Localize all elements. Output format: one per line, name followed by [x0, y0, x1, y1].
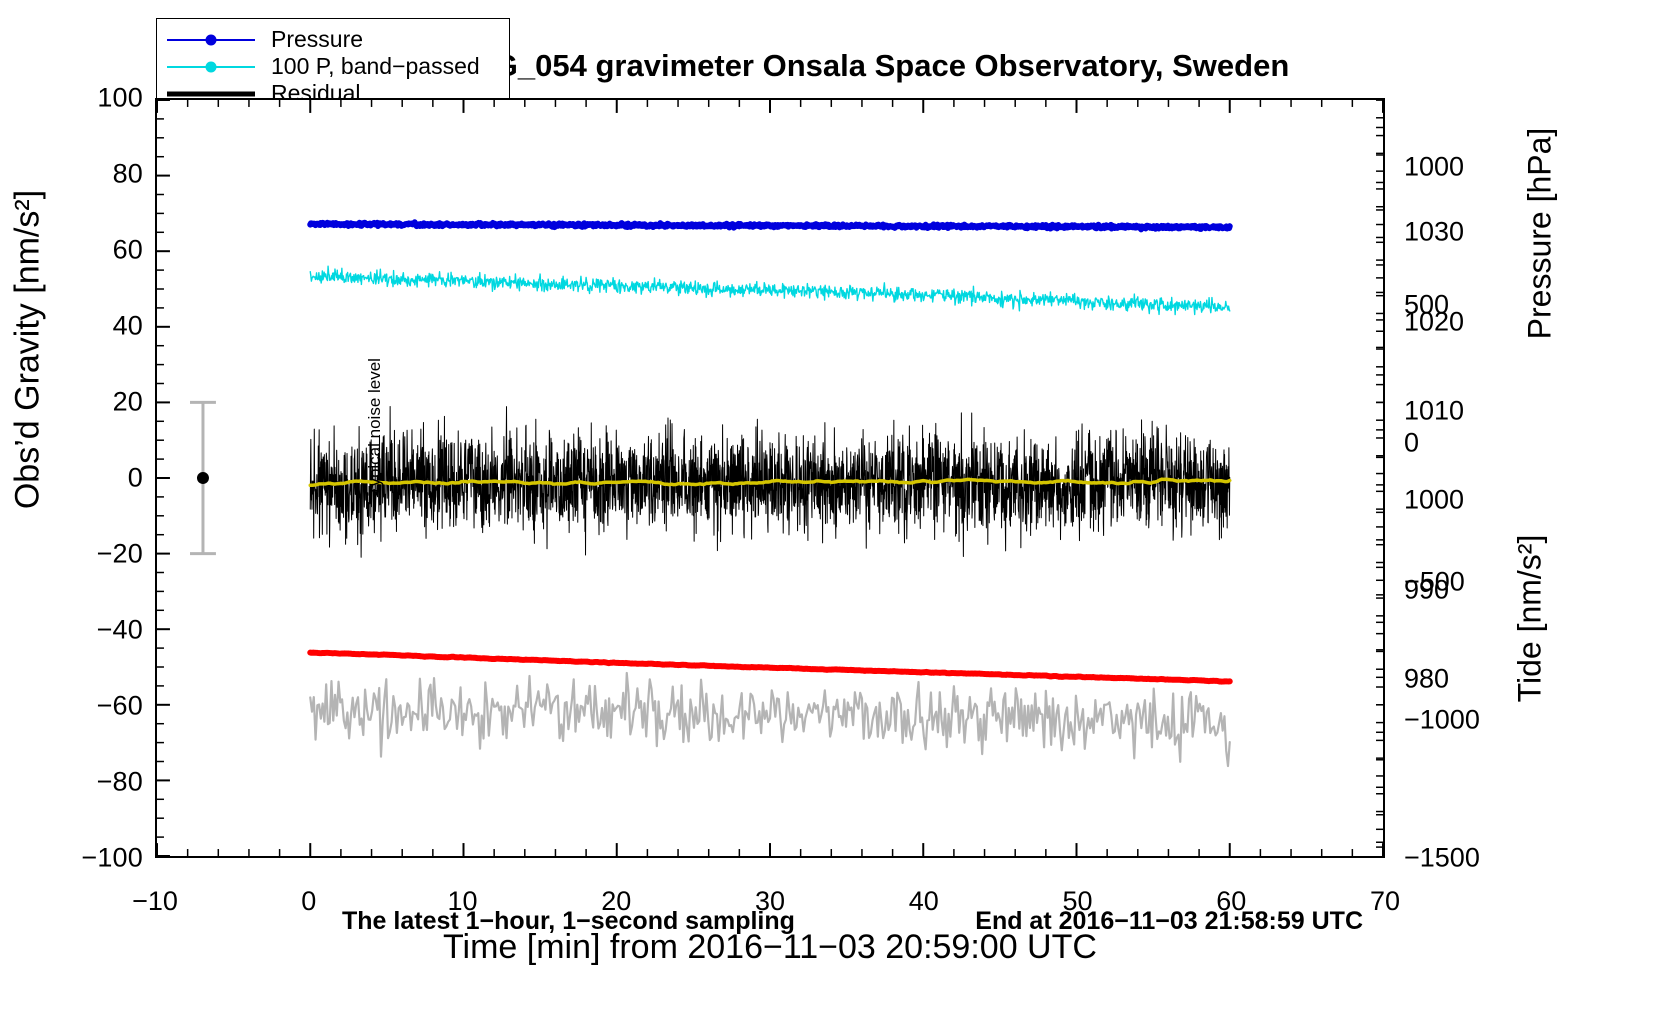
gravimeter-plot: SCG_054 gravimeter Onsala Space Observat…: [0, 0, 1660, 1020]
y-axis-tick-label: −80: [97, 767, 143, 798]
tide-tick-label: −500: [1404, 566, 1465, 597]
x-axis-tick-label: 30: [755, 886, 785, 917]
x-axis-tick-label: −10: [132, 886, 178, 917]
x-axis-tick-label: 0: [301, 886, 316, 917]
y-axis-left-title: Obs’d Gravity [nm/s²]: [9, 140, 48, 560]
legend-item-pressure: Pressure: [157, 26, 509, 53]
legend-marker-dot: [206, 34, 217, 45]
y-axis-tick-label: 80: [113, 159, 143, 190]
plot-canvas: [157, 100, 1383, 856]
y-axis-tick-label: 40: [113, 311, 143, 342]
x-axis-tick-labels: −10010203040506070: [155, 886, 1385, 922]
tide-tick-label: −1500: [1404, 843, 1480, 874]
y-axis-tick-label: −60: [97, 691, 143, 722]
data-series-group: [310, 222, 1230, 766]
legend-key-bandpassed: [167, 56, 255, 78]
tide-tick-label: 0: [1404, 428, 1419, 459]
x-axis-tick-label: 20: [601, 886, 631, 917]
x-axis-tick-label: 70: [1370, 886, 1400, 917]
noise-level-label: Typical noise level: [365, 306, 385, 496]
y-axis-tick-label: −20: [97, 539, 143, 570]
noise-level-marker: [190, 402, 216, 553]
legend-marker-dot: [206, 61, 217, 72]
legend-label: Pressure: [271, 26, 363, 53]
x-axis-tick-label: 10: [447, 886, 477, 917]
y-axis-tide-title: Tide [nm/s²]: [1512, 469, 1549, 769]
x-axis-title: Time [min] from 2016−11−03 20:59:00 UTC: [155, 928, 1385, 967]
legend-label: 100 P, band−passed: [271, 53, 480, 80]
plot-area: The latest 1−hour, 1−second sampling End…: [155, 98, 1385, 858]
y-axis-tick-label: 60: [113, 235, 143, 266]
y-axis-tick-label: −40: [97, 615, 143, 646]
y-axis-tick-label: 100: [97, 83, 143, 114]
tide-tick-label: −1000: [1404, 704, 1480, 735]
x-axis-tick-label: 50: [1062, 886, 1092, 917]
y-axis-tick-label: 20: [113, 387, 143, 418]
legend-key-pressure: [167, 29, 255, 51]
y-axis-pressure-title: Pressure [hPa]: [1522, 74, 1559, 394]
legend-item-bandpassed: 100 P, band−passed: [157, 53, 509, 80]
y-axis-left-tick-labels: 100806040200−20−40−60−80−100: [55, 98, 143, 858]
x-axis-tick-label: 60: [1216, 886, 1246, 917]
y-axis-tide-tick-labels: 10005000−500−1000−1500: [1404, 98, 1524, 858]
y-axis-tick-label: −100: [81, 843, 143, 874]
x-axis-tick-label: 40: [909, 886, 939, 917]
y-axis-tick-label: 0: [128, 463, 143, 494]
tide-tick-label: 500: [1404, 290, 1449, 321]
tide-tick-label: 1000: [1404, 152, 1464, 183]
